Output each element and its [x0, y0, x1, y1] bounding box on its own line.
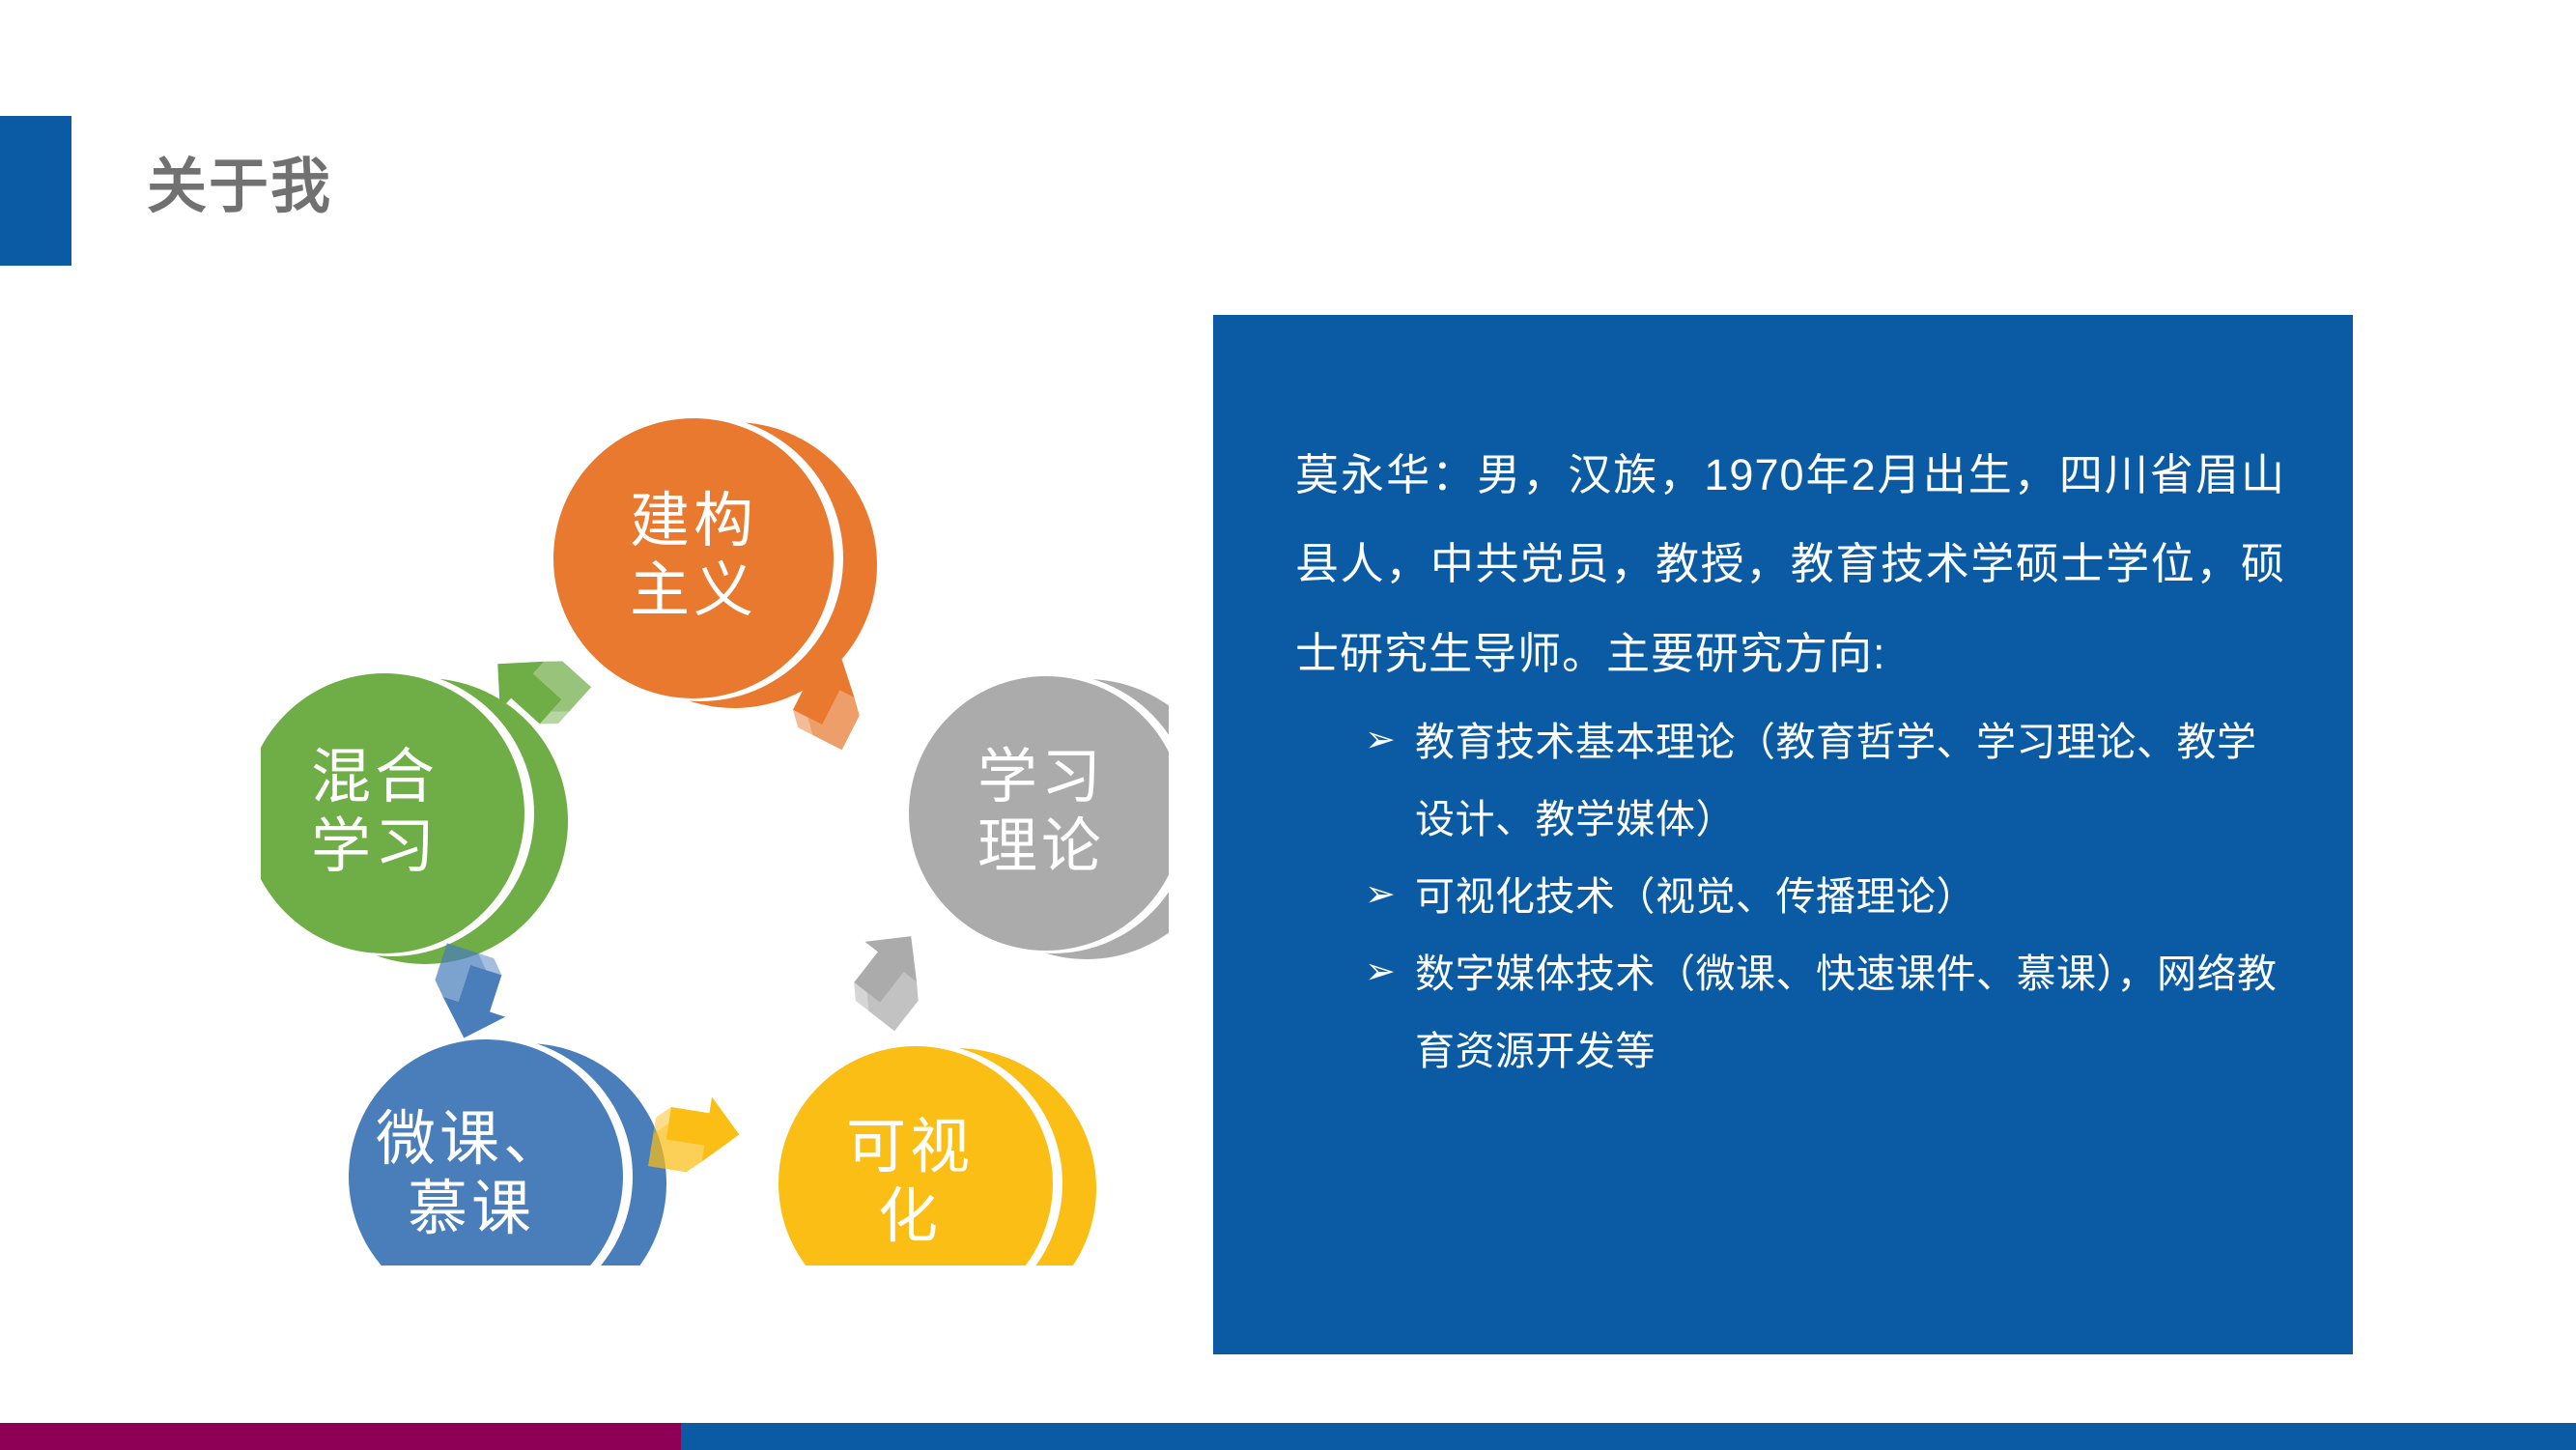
list-item: ➢ 可视化技术（视觉、传播理论） — [1365, 859, 2285, 936]
list-item-label: 可视化技术（视觉、传播理论） — [1415, 874, 1976, 919]
header-accent-square — [0, 116, 71, 266]
bullet-arrow-icon: ➢ — [1365, 704, 1396, 776]
cycle-node-learning-theory[interactable]: 学习 理论 — [909, 673, 1169, 959]
node-label-learning-theory-line2: 理论 — [977, 814, 1105, 880]
node-label-learning-theory-line1: 学习 — [977, 745, 1105, 810]
list-item-label: 教育技术基本理论（教育哲学、学习理论、教学设计、教学媒体） — [1415, 720, 2257, 841]
bullet-arrow-icon: ➢ — [1365, 936, 1396, 1008]
bio-paragraph: 莫永华：男，汉族，1970年2月出生，四川省眉山县人，中共党员，教授，教育技术学… — [1295, 431, 2285, 698]
node-label-micro-mooc-line1: 微课、 — [376, 1107, 567, 1173]
node-label-blended-learning-line2: 学习 — [311, 814, 439, 880]
node-label-constructivism-line1: 建构 — [630, 489, 757, 554]
cycle-diagram: 建构 主义 学习 理论 可视 化 微课、 慕课 — [261, 357, 1169, 1265]
cycle-node-visualization[interactable]: 可视 化 — [778, 1043, 1096, 1265]
arrow-learning-theory-to-visualization-icon — [833, 916, 947, 1031]
footer-bar-magenta-segment — [0, 1423, 681, 1450]
node-label-blended-learning-line1: 混合 — [311, 745, 439, 810]
page-title: 关于我 — [147, 155, 332, 220]
node-label-constructivism-line2: 主义 — [630, 558, 757, 624]
node-label-micro-mooc-line2: 慕课 — [408, 1177, 535, 1242]
node-circle-learning-theory — [909, 676, 1169, 951]
list-item: ➢ 数字媒体技术（微课、快速课件、慕课），网络教育资源开发等 — [1365, 936, 2285, 1091]
bullet-arrow-icon: ➢ — [1365, 859, 1396, 930]
node-label-visualization-line2: 化 — [878, 1184, 942, 1250]
cycle-node-micro-mooc[interactable]: 微课、 慕课 — [349, 1037, 666, 1265]
footer-bar — [0, 1423, 2576, 1450]
cycle-node-blended-learning[interactable]: 混合 学习 — [261, 670, 568, 964]
footer-bar-blue-segment — [681, 1423, 2576, 1450]
arrow-visualization-to-micro-mooc-icon — [648, 1089, 745, 1180]
research-directions-list: ➢ 教育技术基本理论（教育哲学、学习理论、教学设计、教学媒体） ➢ 可视化技术（… — [1295, 704, 2285, 1091]
bio-info-panel: 莫永华：男，汉族，1970年2月出生，四川省眉山县人，中共党员，教授，教育技术学… — [1213, 315, 2353, 1354]
list-item-label: 数字媒体技术（微课、快速课件、慕课），网络教育资源开发等 — [1415, 952, 2278, 1073]
list-item: ➢ 教育技术基本理论（教育哲学、学习理论、教学设计、教学媒体） — [1365, 704, 2285, 859]
node-label-visualization-line1: 可视 — [846, 1115, 974, 1180]
